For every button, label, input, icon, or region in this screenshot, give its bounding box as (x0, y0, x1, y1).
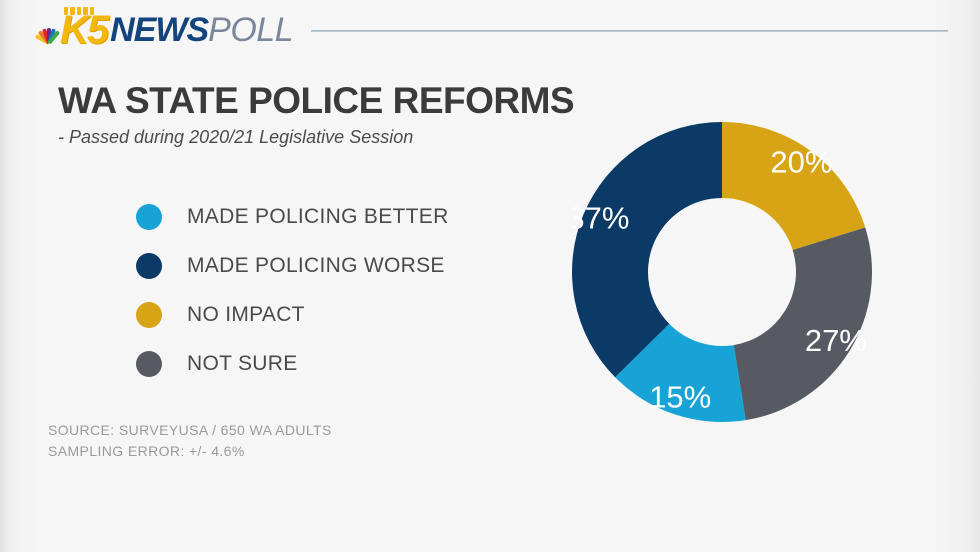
legend-label: NO IMPACT (187, 304, 305, 326)
legend-item-made-policing-better: MADE POLICING BETTER (136, 192, 449, 241)
legend-label: MADE POLICING BETTER (187, 206, 449, 228)
brand-header: K5 NEWS POLL (36, 6, 948, 54)
donut-slice-label: 37% (572, 200, 629, 235)
donut-slice[interactable] (722, 122, 865, 250)
sampling-error-line: SAMPLING ERROR: +/- 4.6% (48, 441, 332, 462)
legend-swatch-icon (136, 204, 162, 230)
legend-label: NOT SURE (187, 353, 298, 375)
legend-item-not-sure: NOT SURE (136, 339, 449, 388)
header-divider (311, 30, 948, 32)
donut-slice-label: 20% (770, 144, 832, 179)
page-title: WA STATE POLICE REFORMS (58, 80, 574, 122)
news-poll-graphic: K5 NEWS POLL WA STATE POLICE REFORMS - P… (0, 0, 980, 552)
news-wordmark: NEWS (110, 13, 208, 47)
donut-slice-label: 15% (649, 379, 711, 414)
donut-slice[interactable] (572, 122, 722, 377)
legend-swatch-icon (136, 253, 162, 279)
source-block: SOURCE: SURVEYUSA / 650 WA ADULTS SAMPLI… (48, 420, 332, 462)
legend-item-made-policing-worse: MADE POLICING WORSE (136, 241, 449, 290)
donut-chart: 20%27%15%37% (572, 96, 872, 448)
donut-chart-svg: 20%27%15%37% (572, 96, 872, 448)
poll-wordmark: POLL (208, 13, 293, 47)
donut-slice-label: 27% (805, 323, 867, 358)
legend-label: MADE POLICING WORSE (187, 255, 445, 277)
source-line: SOURCE: SURVEYUSA / 650 WA ADULTS (48, 420, 332, 441)
legend-swatch-icon (136, 302, 162, 328)
k5-logo: K5 (58, 10, 107, 50)
legend-item-no-impact: NO IMPACT (136, 290, 449, 339)
page-subtitle: - Passed during 2020/21 Legislative Sess… (58, 126, 413, 148)
legend-swatch-icon (136, 351, 162, 377)
k5-dots-decoration (64, 7, 94, 16)
chart-legend: MADE POLICING BETTER MADE POLICING WORSE… (136, 192, 449, 388)
